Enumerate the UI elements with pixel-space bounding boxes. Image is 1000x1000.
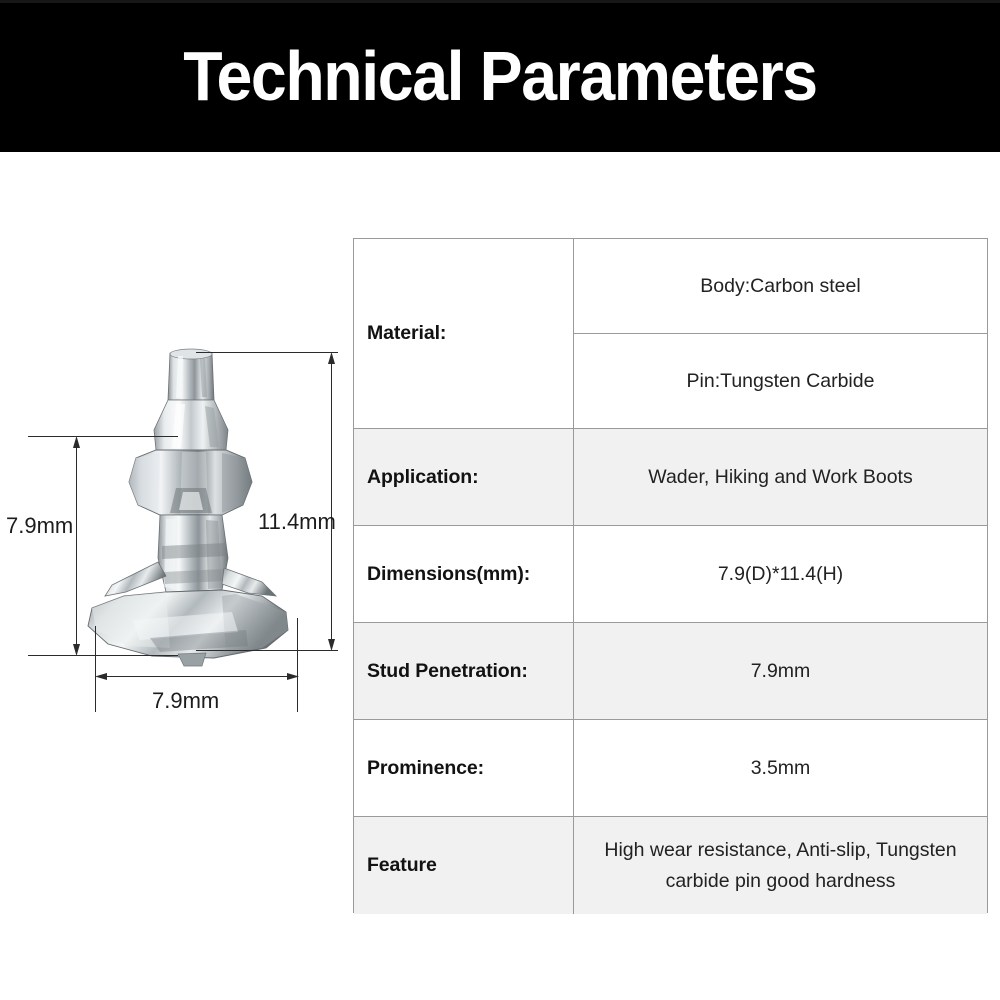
row-label-feature: Feature bbox=[354, 817, 574, 914]
product-spec-page: Technical Parameters bbox=[0, 0, 1000, 1000]
row-value-material-body: Body:Carbon steel bbox=[574, 239, 987, 334]
row-value-dimensions: 7.9(D)*11.4(H) bbox=[574, 526, 987, 622]
callout-diameter-arrowheads bbox=[93, 670, 301, 683]
callout-penetration-label: 7.9mm bbox=[6, 515, 73, 537]
callout-penetration-arrowheads bbox=[70, 434, 83, 658]
row-label-dimensions: Dimensions(mm): bbox=[354, 526, 574, 622]
row-value-material-pin: Pin:Tungsten Carbide bbox=[574, 334, 987, 428]
callout-height-arrowheads bbox=[325, 350, 338, 653]
page-title: Technical Parameters bbox=[40, 26, 960, 126]
callout-height-ext-top bbox=[196, 352, 338, 353]
row-value-material-group: Body:Carbon steel Pin:Tungsten Carbide bbox=[574, 239, 987, 428]
row-label-prominence: Prominence: bbox=[354, 720, 574, 816]
table-row-material: Material: Body:Carbon steel Pin:Tungsten… bbox=[354, 239, 987, 429]
callout-diameter-ext-right bbox=[297, 618, 298, 712]
row-label-stud-penetration: Stud Penetration: bbox=[354, 623, 574, 719]
row-value-application: Wader, Hiking and Work Boots bbox=[574, 429, 987, 525]
table-row-feature: Feature High wear resistance, Anti-slip,… bbox=[354, 817, 987, 914]
callout-penetration-ext-top bbox=[28, 436, 178, 437]
banner-top-edge bbox=[0, 0, 1000, 3]
row-label-application: Application: bbox=[354, 429, 574, 525]
product-photo: 7.9mm 11.4mm 7.9mm bbox=[0, 300, 350, 720]
row-label-material: Material: bbox=[354, 239, 574, 428]
callout-diameter-ext-left bbox=[95, 626, 96, 712]
callout-penetration-ext-bottom bbox=[28, 655, 178, 656]
callout-height-ext-bottom bbox=[196, 650, 338, 651]
row-value-stud-penetration: 7.9mm bbox=[574, 623, 987, 719]
table-row-dimensions: Dimensions(mm): 7.9(D)*11.4(H) bbox=[354, 526, 987, 623]
row-value-prominence: 3.5mm bbox=[574, 720, 987, 816]
header-banner: Technical Parameters bbox=[0, 0, 1000, 152]
row-value-feature: High wear resistance, Anti-slip, Tungste… bbox=[574, 817, 987, 914]
table-row-stud-penetration: Stud Penetration: 7.9mm bbox=[354, 623, 987, 720]
callout-height-label: 11.4mm bbox=[258, 511, 336, 533]
table-row-application: Application: Wader, Hiking and Work Boot… bbox=[354, 429, 987, 526]
table-row-prominence: Prominence: 3.5mm bbox=[354, 720, 987, 817]
callout-diameter-label: 7.9mm bbox=[152, 690, 219, 712]
specifications-table: Material: Body:Carbon steel Pin:Tungsten… bbox=[353, 238, 988, 913]
